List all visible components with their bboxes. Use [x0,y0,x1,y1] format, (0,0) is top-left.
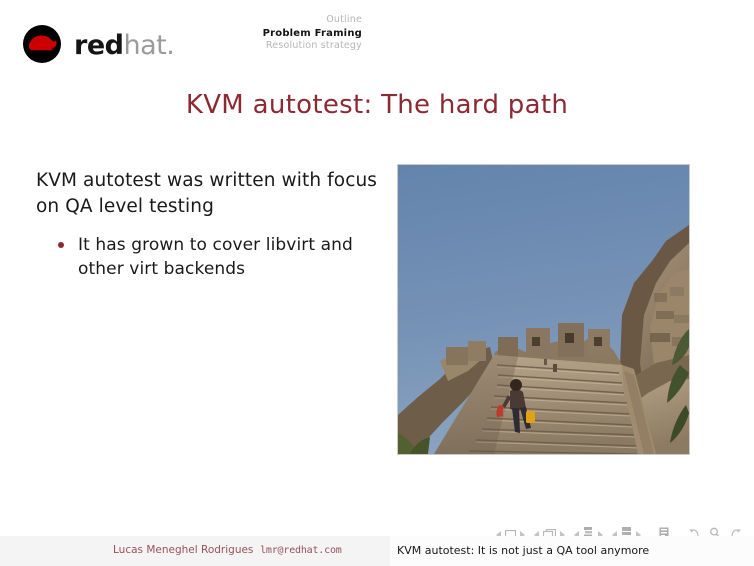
logo-word-hat: hat [123,30,166,61]
bullet-list: It has grown to cover libvirt and other … [36,233,381,281]
redhat-wordmark: redhat. [74,32,174,59]
slide-body: KVM autotest was written with focus on Q… [36,168,381,281]
lead-paragraph: KVM autotest was written with focus on Q… [36,168,381,221]
list-item-label: It has grown to cover libvirt and other … [78,235,353,279]
redhat-logo: redhat. [18,24,174,66]
logo-word-red: red [74,30,123,61]
footer-author-bar: Lucas Meneghel Rodrigues lmr@redhat.com [0,536,390,566]
nav-section-problem-framing[interactable]: Problem Framing [263,27,362,40]
redhat-shadowman-icon [18,25,68,65]
nav-section-resolution-strategy[interactable]: Resolution strategy [263,40,362,53]
list-item: It has grown to cover libvirt and other … [56,233,381,281]
slide-photo [397,164,690,455]
nav-section-outline[interactable]: Outline [263,14,362,27]
footer-author-name: Lucas Meneghel Rodrigues [113,544,253,556]
footer-author-email: lmr@redhat.com [260,545,342,556]
bullet-dot-icon [58,242,64,248]
footer-document-title: KVM autotest: It is not just a QA tool a… [397,544,649,557]
section-navigation[interactable]: Outline Problem Framing Resolution strat… [263,14,362,52]
footer-author: Lucas Meneghel Rodrigues lmr@redhat.com [113,544,342,556]
presentation-slide: redhat. Outline Problem Framing Resoluti… [0,0,754,566]
slide-title: KVM autotest: The hard path [0,90,754,120]
great-wall-photo-illustration [398,165,689,454]
logo-word-dot: . [166,30,174,61]
footer-title-bar: KVM autotest: It is not just a QA tool a… [390,536,754,566]
slide-header: redhat. Outline Problem Framing Resoluti… [0,0,754,78]
slide-footer: Lucas Meneghel Rodrigues lmr@redhat.com … [0,536,754,566]
